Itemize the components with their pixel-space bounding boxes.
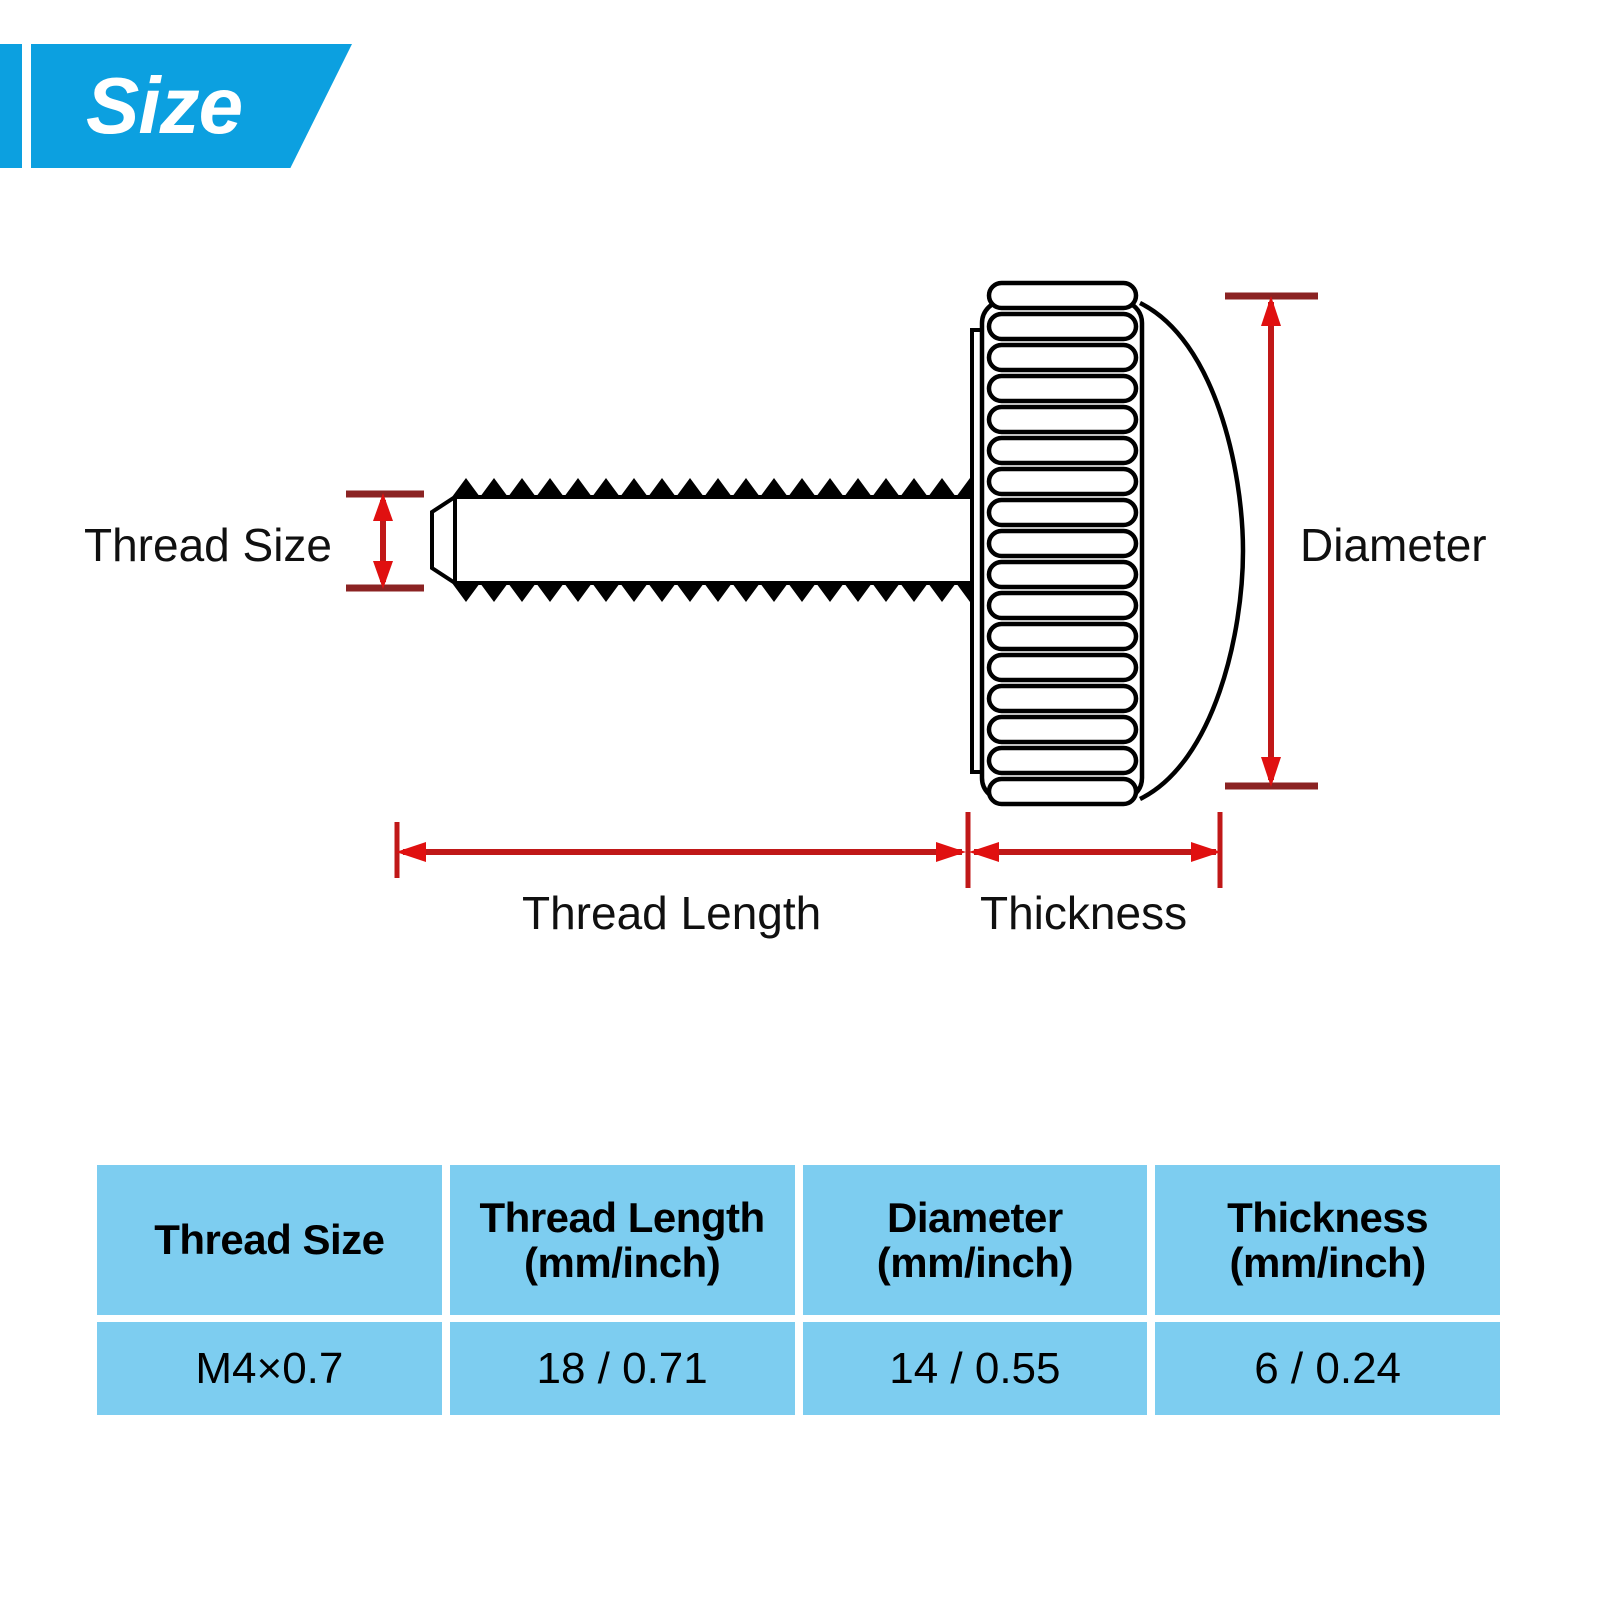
- head-knurl-ridges: [989, 283, 1136, 804]
- header-thread-size-line1: Thread Size: [154, 1216, 384, 1263]
- header-diameter-line2: (mm/inch): [877, 1239, 1073, 1286]
- cell-thread-size: M4×0.7: [97, 1322, 442, 1415]
- thread-length-arrowhead-left: [396, 842, 426, 862]
- knurled-head: [972, 283, 1243, 804]
- thickness-arrowhead-left: [969, 842, 999, 862]
- cell-diameter: 14 / 0.55: [803, 1322, 1148, 1415]
- cell-thickness: 6 / 0.24: [1155, 1322, 1500, 1415]
- label-thickness: Thickness: [980, 890, 1187, 936]
- thread-length-arrowhead-right: [936, 842, 966, 862]
- dimension-thread-size: [346, 493, 424, 589]
- label-thread-size: Thread Size: [84, 522, 332, 568]
- thickness-arrowhead-right: [1191, 842, 1221, 862]
- shaft-outline: [432, 497, 982, 583]
- table-header-thickness: Thickness (mm/inch): [1155, 1165, 1500, 1315]
- header-thickness-line2: (mm/inch): [1230, 1239, 1426, 1286]
- label-thread-length: Thread Length: [522, 890, 821, 936]
- diameter-arrowhead-up: [1261, 296, 1281, 326]
- header-thickness-line1: Thickness: [1227, 1194, 1428, 1241]
- table-header-thread-length: Thread Length (mm/inch): [450, 1165, 795, 1315]
- dimension-thread-length: [396, 822, 966, 878]
- table-header-diameter: Diameter (mm/inch): [803, 1165, 1148, 1315]
- specification-table: Thread Size Thread Length (mm/inch) Diam…: [97, 1165, 1500, 1415]
- label-diameter: Diameter: [1300, 522, 1487, 568]
- table-header-row: Thread Size Thread Length (mm/inch) Diam…: [97, 1165, 1500, 1315]
- head-dome-arc: [1140, 303, 1243, 799]
- header-thread-length-line2: (mm/inch): [524, 1239, 720, 1286]
- dimension-thickness: [968, 812, 1221, 888]
- thread-teeth-top: [452, 478, 984, 497]
- screw-shaft: [432, 478, 984, 602]
- thread-teeth-bottom: [452, 583, 984, 602]
- cell-thread-length: 18 / 0.71: [450, 1322, 795, 1415]
- header-thread-length-line1: Thread Length: [480, 1194, 765, 1241]
- table-row: M4×0.7 18 / 0.71 14 / 0.55 6 / 0.24: [97, 1322, 1500, 1415]
- header-diameter-line1: Diameter: [887, 1194, 1063, 1241]
- table-header-thread-size: Thread Size: [97, 1165, 442, 1315]
